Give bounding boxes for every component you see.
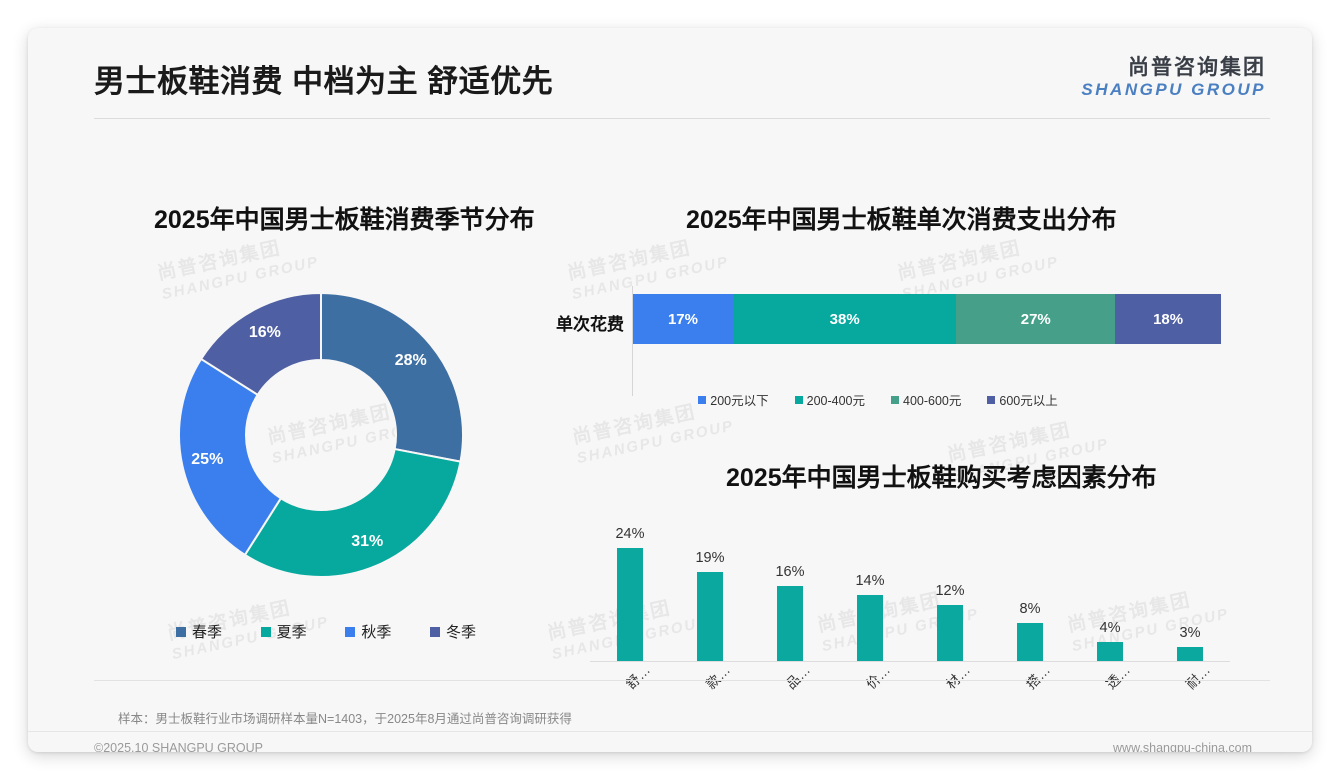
stacked-bar-legend-label: 200-400元 bbox=[807, 390, 865, 409]
legend-swatch-icon bbox=[795, 396, 803, 404]
logo-english-text: SHANGPU GROUP bbox=[1081, 80, 1266, 100]
column-category-label: 耐… bbox=[1180, 659, 1213, 692]
column-chart-factors: 24%舒…19%款…16%品…14%价…12%材…8%搭…4%透…3%耐… bbox=[590, 520, 1240, 720]
stacked-bar-legend: 200元以下200-400元400-600元600元以上 bbox=[528, 390, 1228, 409]
stacked-bar-legend-label: 400-600元 bbox=[903, 390, 961, 409]
legend-swatch-icon bbox=[987, 396, 995, 404]
donut-legend-label: 春季 bbox=[192, 621, 222, 642]
stacked-bar-legend-item[interactable]: 600元以上 bbox=[987, 390, 1057, 409]
chart-title-spend: 2025年中国男士板鞋单次消费支出分布 bbox=[686, 200, 1117, 236]
legend-swatch-icon bbox=[345, 627, 355, 637]
column-bar[interactable] bbox=[857, 595, 883, 661]
donut-slice[interactable] bbox=[321, 293, 463, 462]
stacked-bar-chart-spend: 单次花费 17%38%27%18% bbox=[528, 286, 1228, 406]
page-title: 男士板鞋消费 中档为主 舒适优先 bbox=[94, 56, 553, 101]
donut-legend-label: 夏季 bbox=[277, 621, 307, 642]
donut-legend-item[interactable]: 夏季 bbox=[261, 621, 307, 642]
donut-legend-label: 秋季 bbox=[361, 621, 391, 642]
donut-legend-item[interactable]: 春季 bbox=[176, 621, 222, 642]
column-group: 24%舒… bbox=[592, 539, 668, 661]
column-category-label: 透… bbox=[1100, 659, 1133, 692]
legend-swatch-icon bbox=[698, 396, 706, 404]
slide-canvas: 尚普咨询集团SHANGPU GROUP 尚普咨询集团SHANGPU GROUP … bbox=[28, 28, 1312, 752]
stacked-bar-segment-value: 17% bbox=[668, 311, 698, 328]
column-group: 14%价… bbox=[832, 539, 908, 661]
stacked-bar-segment[interactable]: 17% bbox=[633, 294, 733, 344]
chart-title-season: 2025年中国男士板鞋消费季节分布 bbox=[154, 200, 535, 236]
stacked-bar-legend-label: 600元以上 bbox=[999, 390, 1057, 409]
column-bar[interactable] bbox=[937, 605, 963, 661]
stacked-bar-segment-value: 27% bbox=[1021, 311, 1051, 328]
column-chart-baseline bbox=[590, 661, 1230, 662]
stacked-bar-legend-item[interactable]: 200-400元 bbox=[795, 390, 865, 409]
column-group: 3%耐… bbox=[1152, 539, 1228, 661]
column-value-label: 8% bbox=[1020, 601, 1041, 617]
legend-swatch-icon bbox=[261, 627, 271, 637]
stacked-bar-segment[interactable]: 18% bbox=[1115, 294, 1221, 344]
column-group: 16%品… bbox=[752, 539, 828, 661]
legend-swatch-icon bbox=[430, 627, 440, 637]
column-value-label: 12% bbox=[935, 583, 964, 599]
donut-legend-item[interactable]: 秋季 bbox=[345, 621, 391, 642]
column-value-label: 24% bbox=[615, 526, 644, 542]
column-value-label: 16% bbox=[775, 564, 804, 580]
column-category-label: 品… bbox=[780, 659, 813, 692]
column-value-label: 3% bbox=[1180, 625, 1201, 641]
column-value-label: 4% bbox=[1100, 620, 1121, 636]
brand-logo: 尚普咨询集团 SHANGPU GROUP bbox=[1081, 56, 1266, 100]
legend-swatch-icon bbox=[891, 396, 899, 404]
column-group: 4%透… bbox=[1072, 539, 1148, 661]
stacked-bar-track: 17%38%27%18% bbox=[633, 294, 1221, 344]
sample-footnote: 样本：男士板鞋行业市场调研样本量N=1403，于2025年8月通过尚普咨询调研获… bbox=[118, 708, 572, 727]
chart-title-factor: 2025年中国男士板鞋购买考虑因素分布 bbox=[726, 458, 1157, 494]
website-link[interactable]: www.shangpu-china.com bbox=[1113, 741, 1252, 752]
donut-slice[interactable] bbox=[245, 449, 461, 577]
stacked-bar-category-label: 单次花费 bbox=[528, 310, 624, 335]
stacked-bar-legend-item[interactable]: 400-600元 bbox=[891, 390, 961, 409]
copyright-text: ©2025.10 SHANGPU GROUP bbox=[94, 741, 263, 752]
donut-legend-item[interactable]: 冬季 bbox=[430, 621, 476, 642]
donut-slice-value: 28% bbox=[395, 352, 427, 370]
column-group: 12%材… bbox=[912, 539, 988, 661]
donut-chart-season: 28%31%25%16% bbox=[176, 290, 466, 580]
legend-swatch-icon bbox=[176, 627, 186, 637]
stacked-bar-segment-value: 18% bbox=[1153, 311, 1183, 328]
stacked-bar-legend-item[interactable]: 200元以下 bbox=[698, 390, 768, 409]
column-category-label: 材… bbox=[940, 659, 973, 692]
slide-header: 男士板鞋消费 中档为主 舒适优先 尚普咨询集团 SHANGPU GROUP bbox=[28, 28, 1312, 124]
column-value-label: 14% bbox=[855, 573, 884, 589]
donut-slice-value: 16% bbox=[249, 324, 281, 342]
column-category-label: 款… bbox=[700, 659, 733, 692]
stacked-bar-legend-label: 200元以下 bbox=[710, 390, 768, 409]
footer-divider bbox=[28, 731, 1312, 732]
column-group: 8%搭… bbox=[992, 539, 1068, 661]
stacked-bar-segment-value: 38% bbox=[830, 311, 860, 328]
donut-slice-value: 25% bbox=[191, 451, 223, 469]
column-bar[interactable] bbox=[1017, 623, 1043, 661]
column-bar[interactable] bbox=[617, 548, 643, 661]
donut-legend: 春季夏季秋季冬季 bbox=[176, 621, 476, 642]
donut-legend-label: 冬季 bbox=[446, 621, 476, 642]
column-bar[interactable] bbox=[777, 586, 803, 661]
stacked-bar-segment[interactable]: 38% bbox=[733, 294, 956, 344]
stacked-bar-segment[interactable]: 27% bbox=[956, 294, 1115, 344]
column-group: 19%款… bbox=[672, 539, 748, 661]
donut-slice-value: 31% bbox=[351, 533, 383, 551]
column-value-label: 19% bbox=[695, 550, 724, 566]
donut-chart-svg bbox=[176, 290, 466, 580]
column-category-label: 价… bbox=[860, 659, 893, 692]
column-category-label: 搭… bbox=[1020, 659, 1053, 692]
column-bar[interactable] bbox=[697, 572, 723, 661]
footnote-divider bbox=[94, 680, 1270, 681]
logo-chinese-text: 尚普咨询集团 bbox=[1081, 56, 1266, 80]
header-divider bbox=[94, 118, 1270, 119]
column-category-label: 舒… bbox=[620, 659, 653, 692]
